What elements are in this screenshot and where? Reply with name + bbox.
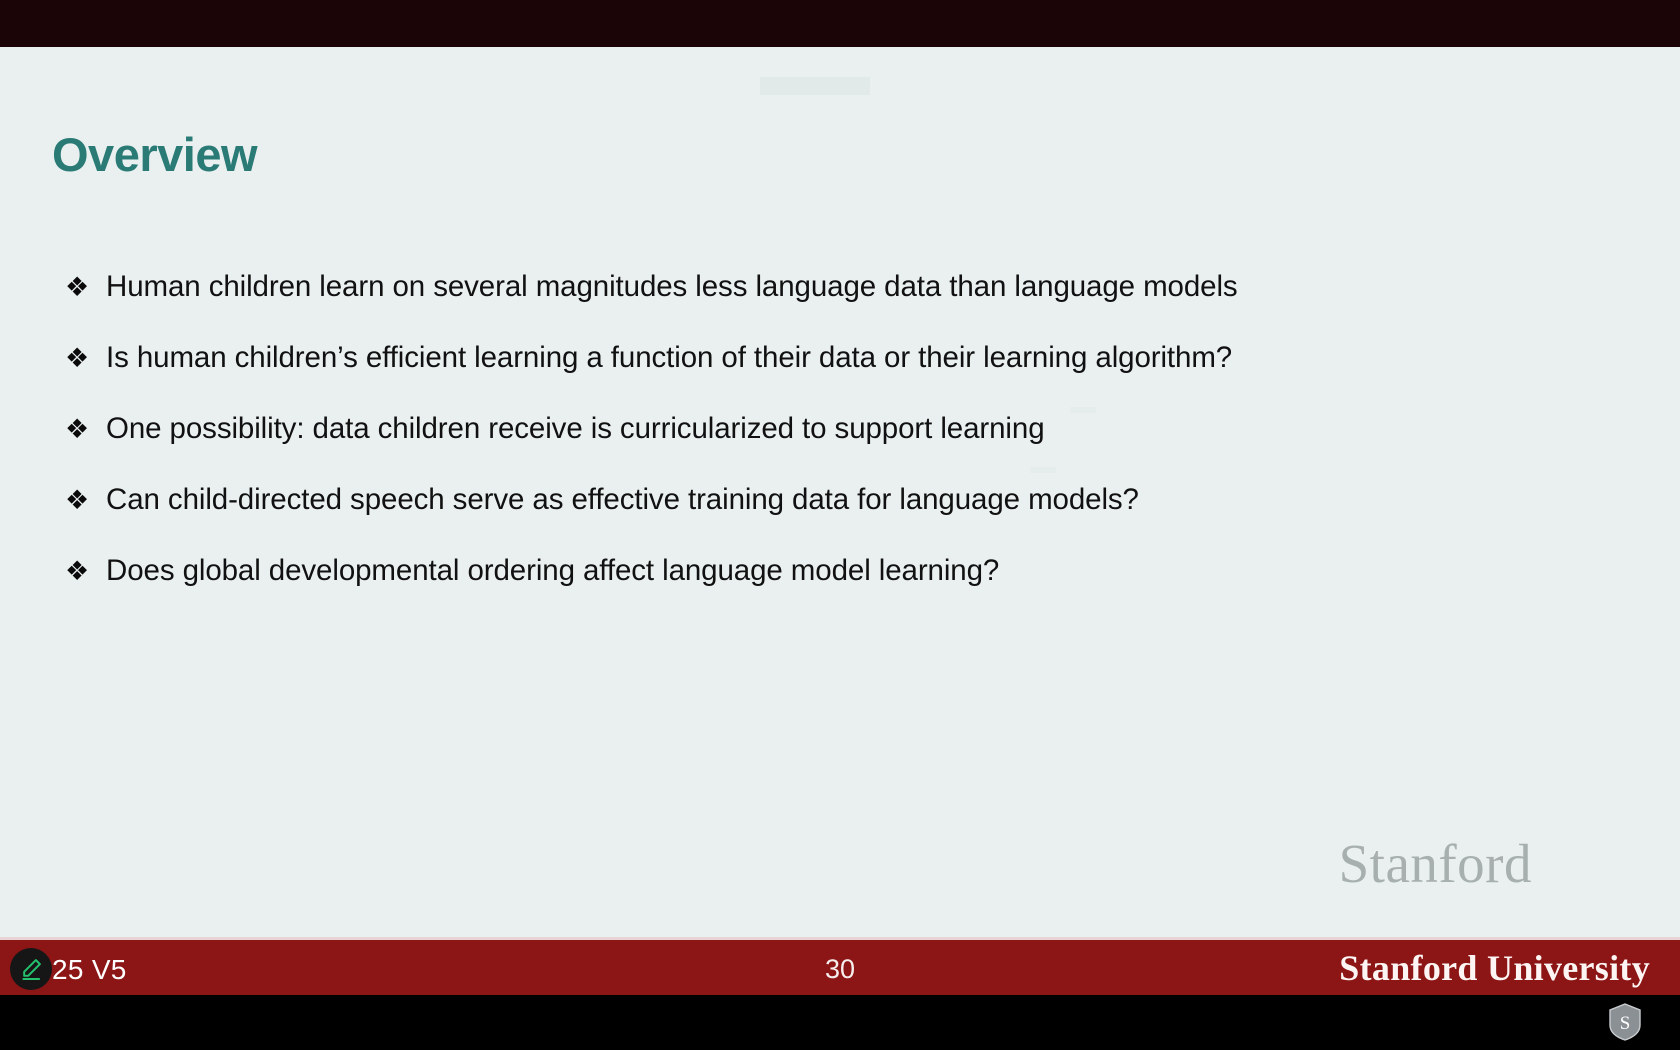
list-item-label: Is human children’s efficient learning a… [106,338,1232,378]
list-item: ❖ Human children learn on several magnit… [62,267,1562,338]
video-letterbox-bottom: S [0,995,1680,1050]
diamond-bullet-icon: ❖ [62,267,106,307]
stanford-seal-icon: S [1608,1003,1642,1041]
diamond-bullet-icon: ❖ [62,409,106,449]
list-item: ❖ Can child-directed speech serve as eff… [62,480,1562,551]
video-letterbox-top [0,0,1680,47]
list-item-label: Human children learn on several magnitud… [106,267,1238,307]
diamond-bullet-icon: ❖ [62,338,106,378]
list-item-label: Does global developmental ordering affec… [106,551,999,591]
list-item-label: One possibility: data children receive i… [106,409,1045,449]
diamond-bullet-icon: ❖ [62,551,106,591]
bullet-list: ❖ Human children learn on several magnit… [62,267,1562,622]
compression-artifact [760,77,870,95]
page-title: Overview [52,127,257,182]
presentation-slide: Overview ❖ Human children learn on sever… [0,47,1680,937]
stanford-watermark: Stanford [1339,832,1532,895]
pen-icon[interactable] [10,948,52,990]
list-item-label: Can child-directed speech serve as effec… [106,480,1139,520]
list-item: ❖ One possibility: data children receive… [62,409,1562,480]
list-item: ❖ Is human children’s efficient learning… [62,338,1562,409]
diamond-bullet-icon: ❖ [62,480,106,520]
svg-text:S: S [1620,1013,1631,1034]
video-player-screen: Overview ❖ Human children learn on sever… [0,0,1680,1050]
slide-footer-bar: 25 V5 30 Stanford University [0,937,1680,998]
list-item: ❖ Does global developmental ordering aff… [62,551,1562,622]
institution-label: Stanford University [1339,947,1650,989]
